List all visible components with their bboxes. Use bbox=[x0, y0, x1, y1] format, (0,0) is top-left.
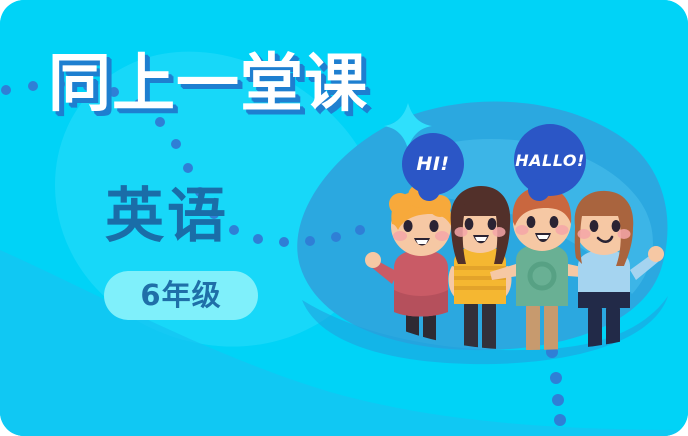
course-banner-card: HI! HALLO! 同上一堂课 英语 6年级 bbox=[0, 0, 688, 436]
background-decoration bbox=[0, 0, 688, 436]
